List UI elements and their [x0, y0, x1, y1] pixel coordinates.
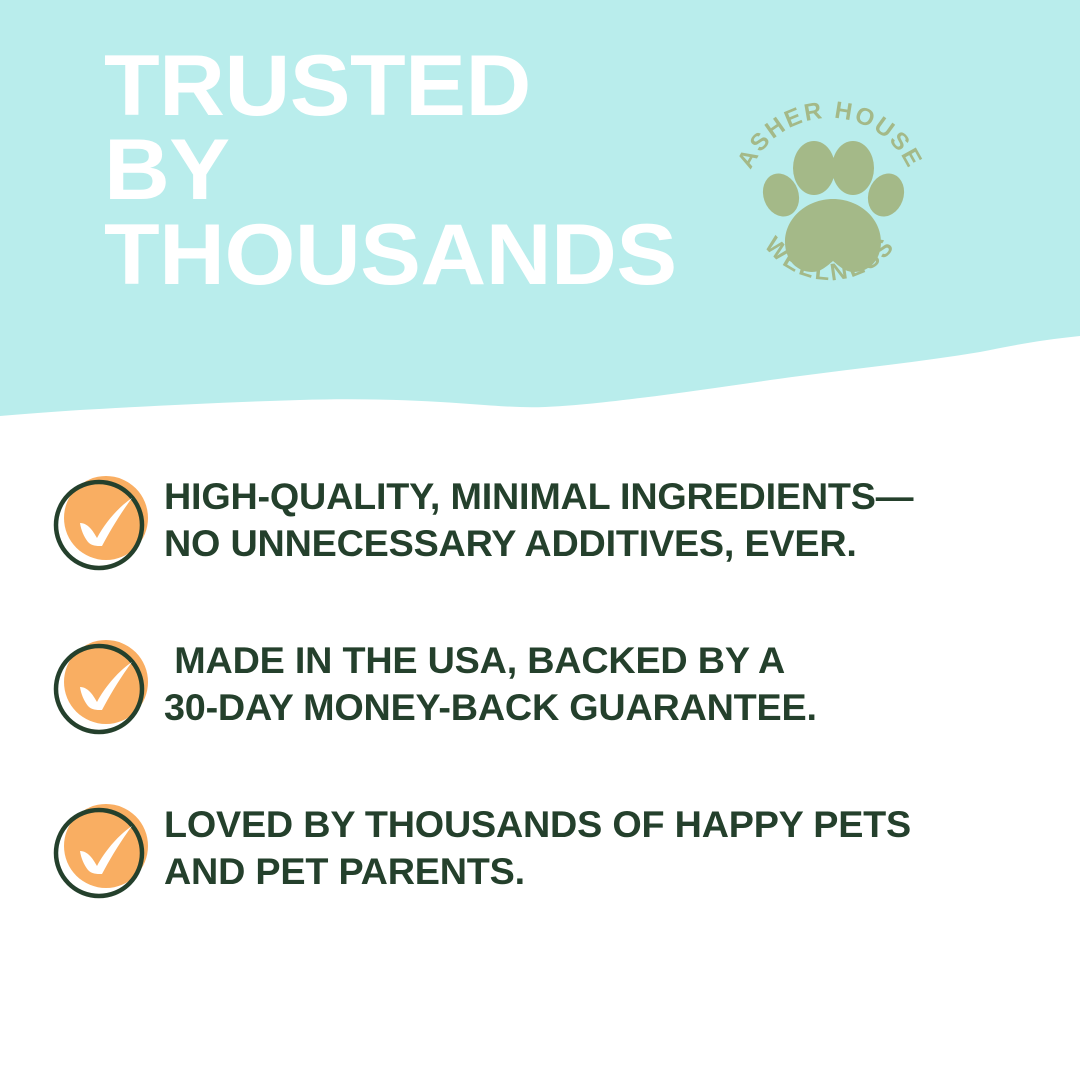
list-item: MADE IN THE USA, BACKED BY A 30-DAY MONE… [50, 630, 1040, 742]
feature-list: HIGH-QUALITY, MINIMAL INGREDIENTS— NO UN… [50, 466, 1040, 906]
check-circle-icon [50, 630, 154, 742]
list-item-line-2: 30-DAY MONEY-BACK GUARANTEE. [164, 685, 1058, 732]
list-item-line-2: NO UNNECESSARY ADDITIVES, EVER. [164, 521, 1058, 568]
list-item: HIGH-QUALITY, MINIMAL INGREDIENTS— NO UN… [50, 466, 1040, 578]
brand-logo: ASHER HOUSE WELLNESS [722, 92, 938, 308]
list-item-line-1: HIGH-QUALITY, MINIMAL INGREDIENTS— [164, 474, 1058, 521]
check-circle-icon [50, 466, 154, 578]
list-item-line-1: MADE IN THE USA, BACKED BY A [164, 638, 1058, 685]
page-title: TRUSTED BY THOUSANDS [104, 44, 782, 297]
headline-line-2: BY [104, 128, 782, 212]
list-item-text: LOVED BY THOUSANDS OF HAPPY PETS AND PET… [164, 794, 1058, 895]
list-item: LOVED BY THOUSANDS OF HAPPY PETS AND PET… [50, 794, 1040, 906]
promo-graphic: TRUSTED BY THOUSANDS ASHER HOUSE WELLNES… [0, 0, 1080, 1080]
list-item-text: MADE IN THE USA, BACKED BY A 30-DAY MONE… [164, 630, 1058, 731]
headline-line-3: THOUSANDS [104, 213, 782, 297]
list-item-line-2: AND PET PARENTS. [164, 849, 1058, 896]
headline-line-1: TRUSTED [104, 44, 782, 128]
list-item-text: HIGH-QUALITY, MINIMAL INGREDIENTS— NO UN… [164, 466, 1058, 567]
list-item-line-1: LOVED BY THOUSANDS OF HAPPY PETS [164, 802, 1058, 849]
check-circle-icon [50, 794, 154, 906]
